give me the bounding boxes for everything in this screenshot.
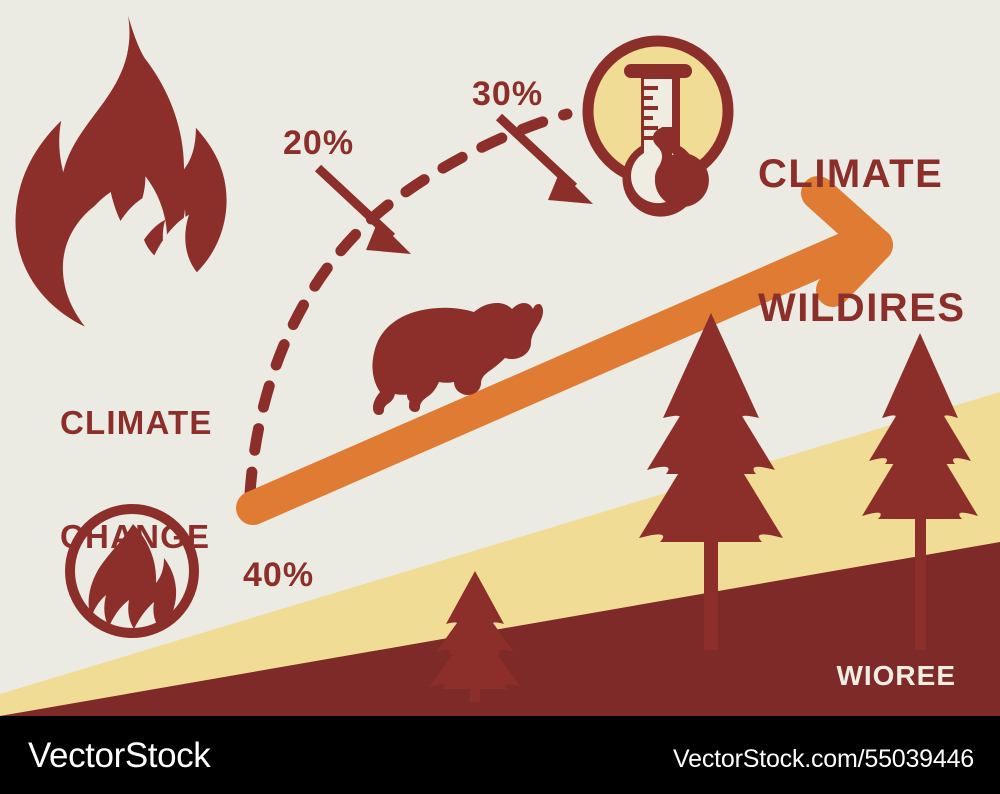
percent-label-30: 30%	[472, 76, 543, 112]
heading-climate-wildfires: CLIMATE WILDIRES	[758, 62, 966, 420]
illustration-scene: 20% 30% 40% CLIMATE WILDIRES CLIMATE CHA…	[0, 0, 1000, 716]
vectorstock-logo: VectorStock	[28, 736, 210, 776]
watermark-footer: VectorStock VectorStock.com/55039446	[0, 716, 1000, 794]
heading-change-line1: CLIMATE	[60, 404, 213, 442]
heading-wildfires-line2: WILDIRES	[758, 286, 966, 331]
heading-change-line2: CHANGE	[60, 518, 213, 556]
heading-wildfires-line1: CLIMATE	[758, 152, 966, 197]
infographic-poster: 20% 30% 40% CLIMATE WILDIRES CLIMATE CHA…	[0, 0, 1000, 794]
caption-text: WIOREE RERIGARE CEQUUITENTS	[612, 586, 956, 716]
percent-label-20: 20%	[283, 125, 354, 161]
percent-label-40: 40%	[243, 557, 314, 593]
heading-climate-change: CLIMATE CHANGE	[60, 327, 213, 633]
vectorstock-url: VectorStock.com/55039446	[673, 745, 974, 774]
caption-line-1: WIOREE	[612, 658, 956, 694]
